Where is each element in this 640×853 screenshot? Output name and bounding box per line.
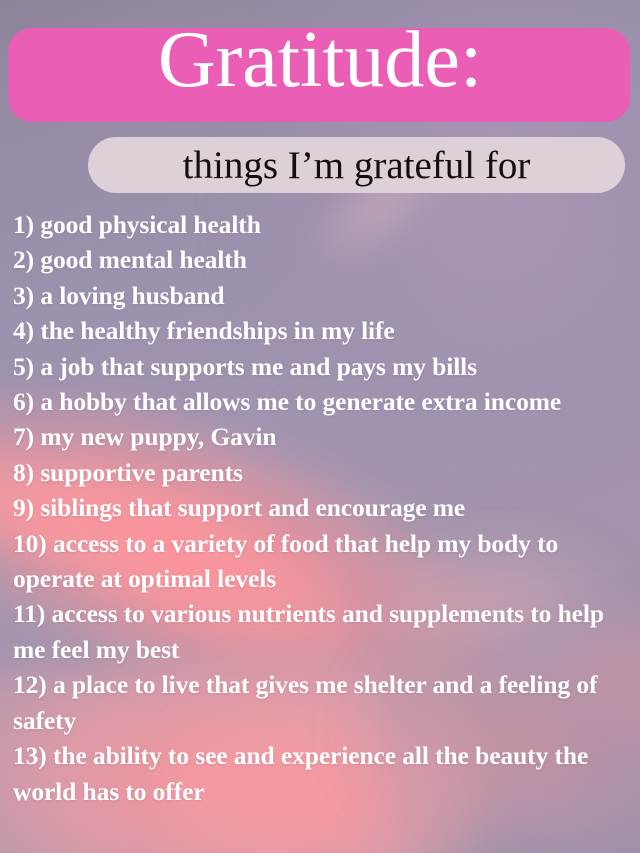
list-item: 13) the ability to see and experience al… <box>13 738 629 809</box>
list-item: 12) a place to live that gives me shelte… <box>13 667 629 738</box>
list-item: 1) good physical health <box>13 207 629 242</box>
list-item: 2) good mental health <box>13 242 629 277</box>
list-item: 5) a job that supports me and pays my bi… <box>13 349 629 384</box>
list-item: 9) siblings that support and encourage m… <box>13 490 629 525</box>
list-item: 8) supportive parents <box>13 455 629 490</box>
gratitude-list: 1) good physical health 2) good mental h… <box>13 207 629 809</box>
list-item: 3) a loving husband <box>13 278 629 313</box>
list-item: 11) access to various nutrients and supp… <box>13 596 629 667</box>
page-subtitle: things I’m grateful for <box>88 137 625 193</box>
page-title: Gratitude: <box>0 12 640 108</box>
list-item: 6) a hobby that allows me to generate ex… <box>13 384 629 419</box>
gratitude-list-page: Gratitude: things I’m grateful for 1) go… <box>0 0 640 853</box>
list-item: 4) the healthy friendships in my life <box>13 313 629 348</box>
list-item: 7) my new puppy, Gavin <box>13 419 629 454</box>
list-item: 10) access to a variety of food that hel… <box>13 526 629 597</box>
